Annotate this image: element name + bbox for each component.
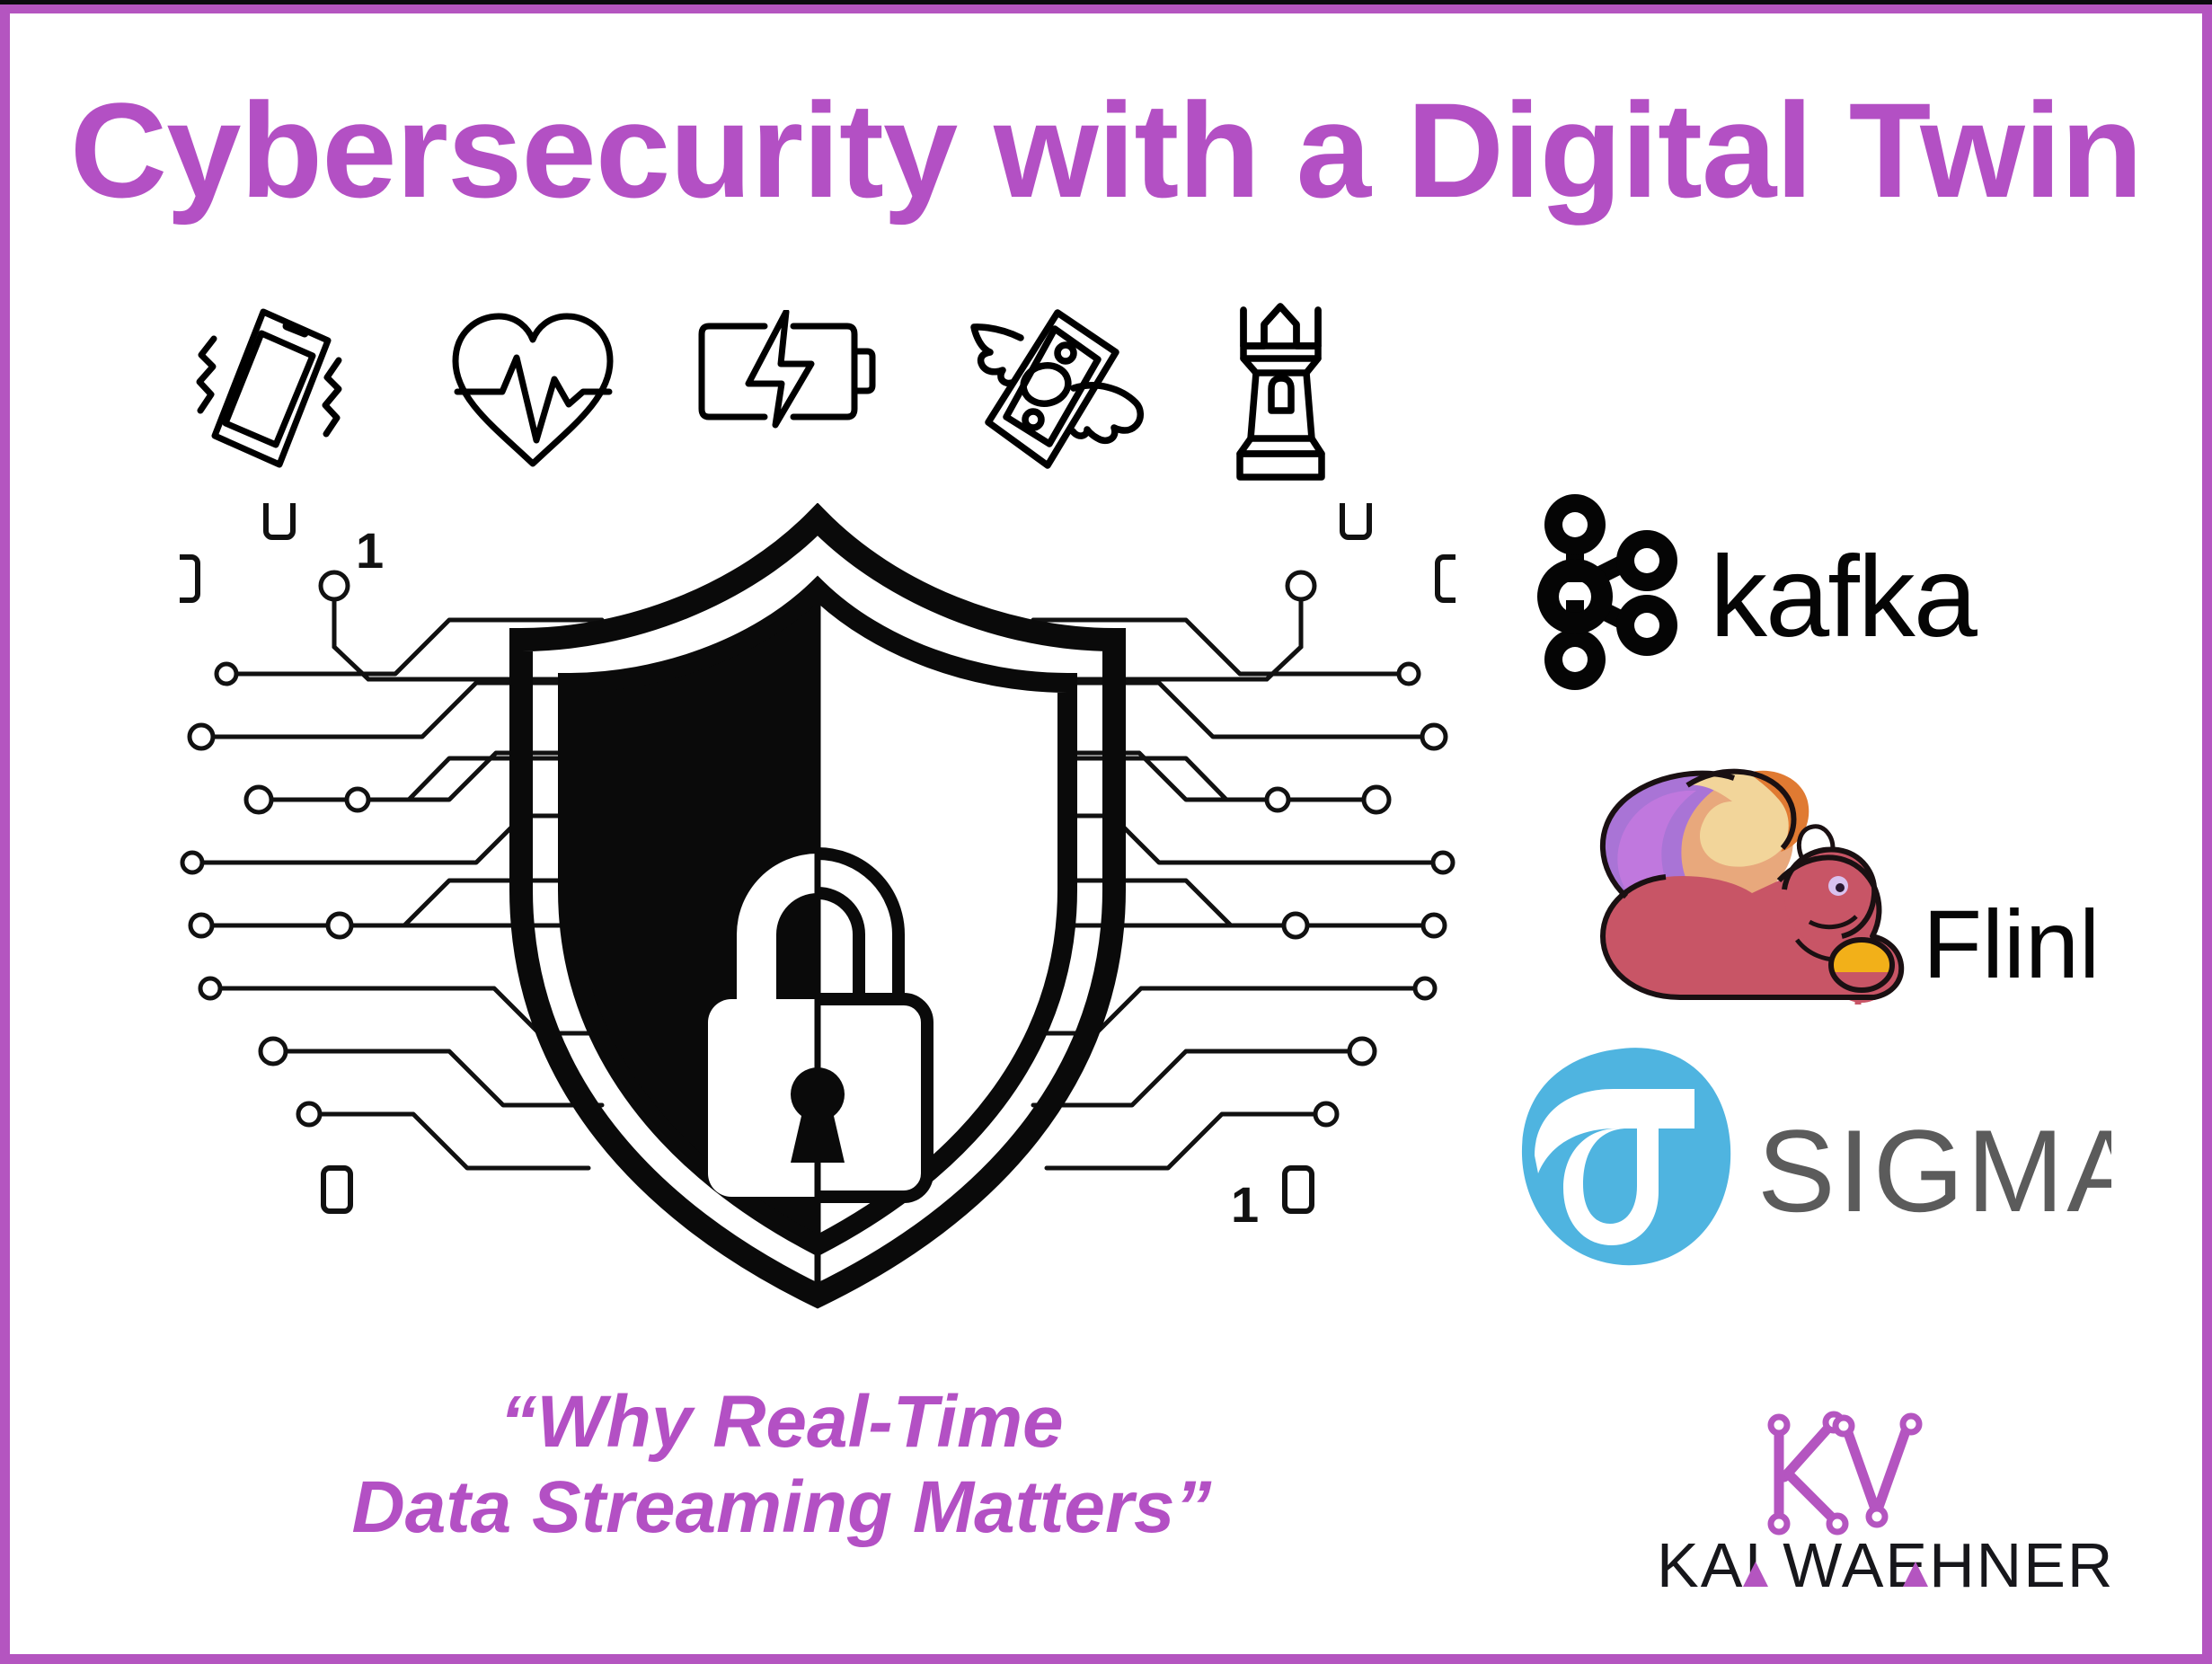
flink-logo: Flink: [1572, 746, 2093, 1011]
chess-rook-icon: [1219, 299, 1367, 483]
kw-monogram-mark: [1779, 1427, 1907, 1518]
icon-row: [193, 297, 1469, 485]
circuit-chips-right: [1285, 503, 1455, 1211]
sigma-wordmark: SIGMA: [1757, 1105, 2111, 1236]
vibrating-phone-icon: [193, 301, 373, 481]
sigma-mark: [1522, 1048, 1730, 1265]
quote-line-1: “Why Real-Time: [500, 1381, 1063, 1463]
security-shield-with-padlock: 1: [180, 503, 1455, 1312]
kai-waehner-brand-logo: KAI WAEHNER: [1653, 1411, 2120, 1617]
flying-money-icon: [956, 295, 1149, 488]
kai-waehner-wordmark: KAI WAEHNER: [1657, 1530, 2114, 1600]
circuit-traces-left: [198, 620, 602, 1168]
binary-digit-right: 1: [1231, 1176, 1259, 1233]
kafka-nodes: [1537, 494, 1677, 690]
top-black-strip: [0, 0, 2212, 4]
kafka-logo: kafka: [1523, 485, 2098, 696]
kafka-wordmark: kafka: [1710, 533, 1978, 661]
heartbeat-pulse-icon: [443, 305, 623, 476]
quote-line-2: Data Streaming Matters”: [126, 1465, 1438, 1550]
binary-digit-left: 1: [356, 522, 384, 579]
subtitle-quote: “Why Real-Time Data Streaming Matters”: [126, 1379, 1438, 1550]
slide-canvas: Cybersecurity with a Digital Twin: [0, 0, 2212, 1664]
circuit-traces-right: [1033, 620, 1438, 1168]
flink-squirrel-mark: [1603, 771, 1901, 1005]
flink-wordmark: Flink: [1923, 890, 2093, 998]
sigma-logo: SIGMA: [1482, 1033, 2111, 1289]
battery-charging-icon: [693, 310, 886, 472]
technology-logos: kafka: [1473, 485, 2120, 1321]
circuit-chips-left: [180, 503, 350, 1211]
page-title: Cybersecurity with a Digital Twin: [0, 83, 2212, 217]
